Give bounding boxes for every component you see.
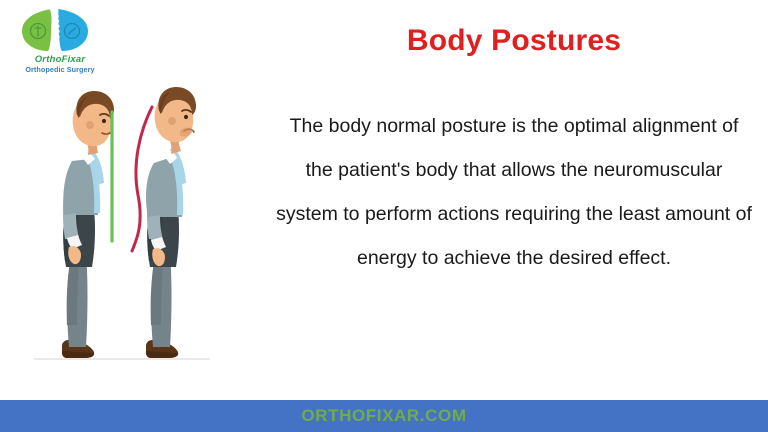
slide-root: OrthoFixar Orthopedic Surgery	[0, 0, 768, 432]
content-area: Body Postures The body normal posture is…	[268, 8, 760, 378]
footer-bar: ORTHOFIXAR.COM	[0, 400, 768, 432]
incorrect-posture-figure	[132, 87, 196, 358]
page-title: Body Postures	[268, 24, 760, 58]
spine-between-leaves-icon	[18, 6, 92, 54]
body-paragraph: The body normal posture is the optimal a…	[274, 104, 754, 280]
footer-website-link[interactable]: ORTHOFIXAR.COM	[301, 406, 466, 426]
correct-posture-figure	[62, 91, 114, 358]
body-posture-illustration	[20, 55, 220, 365]
